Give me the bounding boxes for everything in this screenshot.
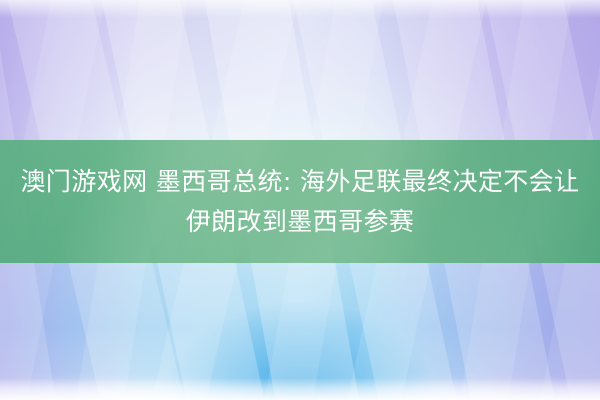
headline-text: 澳门游戏网 墨西哥总统: 海外足联最终决定不会让伊朗改到墨西哥参赛 [20, 162, 580, 242]
top-haze-overlay [0, 0, 600, 18]
bottom-white-fade [0, 378, 600, 400]
headline-green-band: 澳门游戏网 墨西哥总统: 海外足联最终决定不会让伊朗改到墨西哥参赛 [0, 140, 600, 263]
news-banner-image: 澳门游戏网 墨西哥总统: 海外足联最终决定不会让伊朗改到墨西哥参赛 [0, 0, 600, 400]
